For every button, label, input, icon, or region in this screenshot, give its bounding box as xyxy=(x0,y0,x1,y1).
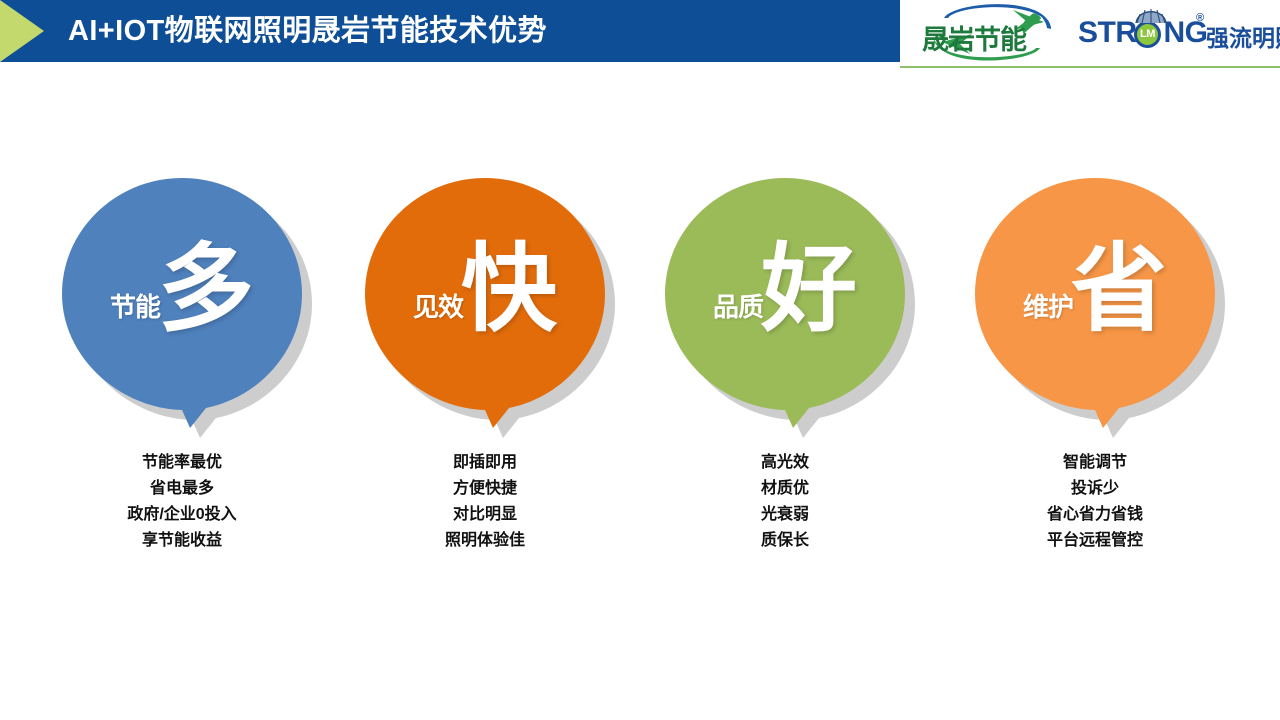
pillar-card: 品质 好 高光效 材质优 光衰弱 质保长 xyxy=(635,178,935,554)
pillar-bullets: 即插即用 方便快捷 对比明显 照明体验佳 xyxy=(335,450,635,554)
strong-prefix-text: STR xyxy=(1078,16,1137,49)
pillar-big-label: 省 xyxy=(1071,242,1165,338)
bubble-graphic: 见效 快 xyxy=(365,178,605,428)
pillar-big-label: 多 xyxy=(158,242,252,338)
list-item: 高光效 xyxy=(635,450,935,476)
pillar-small-label: 维护 xyxy=(1023,294,1073,320)
page-title: AI+IOT物联网照明晟岩节能技术优势 xyxy=(68,7,547,55)
list-item: 平台远程管控 xyxy=(945,528,1245,554)
strong-logo: STRNG LM ® 强流明照明 xyxy=(1078,6,1274,60)
shengyan-brand-text: 晟岩节能 xyxy=(922,18,1026,57)
bubble-label: 品质 好 xyxy=(665,178,905,410)
bubble-label: 维护 省 xyxy=(975,178,1215,410)
list-item: 方便快捷 xyxy=(335,476,635,502)
list-item: 即插即用 xyxy=(335,450,635,476)
content-area: 节能 多 节能率最优 省电最多 政府/企业0投入 享节能收益 见效 快 即插即 xyxy=(0,62,1280,720)
list-item: 省心省力省钱 xyxy=(945,502,1245,528)
pillar-small-label: 节能 xyxy=(110,294,160,320)
bubble-graphic: 维护 省 xyxy=(975,178,1215,428)
list-item: 光衰弱 xyxy=(635,502,935,528)
list-item: 照明体验佳 xyxy=(335,528,635,554)
pillar-card: 维护 省 智能调节 投诉少 省心省力省钱 平台远程管控 xyxy=(945,178,1245,554)
shengyan-logo: 晟岩节能 xyxy=(910,4,1074,62)
pillar-big-label: 好 xyxy=(761,242,855,338)
registered-mark: ® xyxy=(1196,12,1204,24)
pillar-bullets: 高光效 材质优 光衰弱 质保长 xyxy=(635,450,935,554)
bubble-graphic: 节能 多 xyxy=(62,178,302,428)
list-item: 投诉少 xyxy=(945,476,1245,502)
list-item: 享节能收益 xyxy=(32,528,332,554)
chevron-right-icon xyxy=(0,0,44,62)
bubble-graphic: 品质 好 xyxy=(665,178,905,428)
list-item: 节能率最优 xyxy=(32,450,332,476)
list-item: 对比明显 xyxy=(335,502,635,528)
brand-logo-plate: 晟岩节能 STRNG LM ® 强流明照明 xyxy=(900,0,1280,68)
strong-chinese-name: 强流明照明 xyxy=(1206,19,1280,53)
pillar-card: 见效 快 即插即用 方便快捷 对比明显 照明体验佳 xyxy=(335,178,635,554)
pillar-small-label: 见效 xyxy=(413,294,463,320)
strong-o-label: LM xyxy=(1137,24,1158,45)
bubble-label: 节能 多 xyxy=(62,178,302,410)
strong-o-badge: LM xyxy=(1134,21,1161,48)
pillar-big-label: 快 xyxy=(461,242,555,338)
bubble-label: 见效 快 xyxy=(365,178,605,410)
fan-shade-icon xyxy=(1134,4,1168,24)
pillar-bullets: 智能调节 投诉少 省心省力省钱 平台远程管控 xyxy=(945,450,1245,554)
pillar-small-label: 品质 xyxy=(713,294,763,320)
list-item: 材质优 xyxy=(635,476,935,502)
list-item: 智能调节 xyxy=(945,450,1245,476)
list-item: 质保长 xyxy=(635,528,935,554)
pillar-card: 节能 多 节能率最优 省电最多 政府/企业0投入 享节能收益 xyxy=(32,178,332,554)
list-item: 省电最多 xyxy=(32,476,332,502)
list-item: 政府/企业0投入 xyxy=(32,502,332,528)
pillar-bullets: 节能率最优 省电最多 政府/企业0投入 享节能收益 xyxy=(32,450,332,554)
